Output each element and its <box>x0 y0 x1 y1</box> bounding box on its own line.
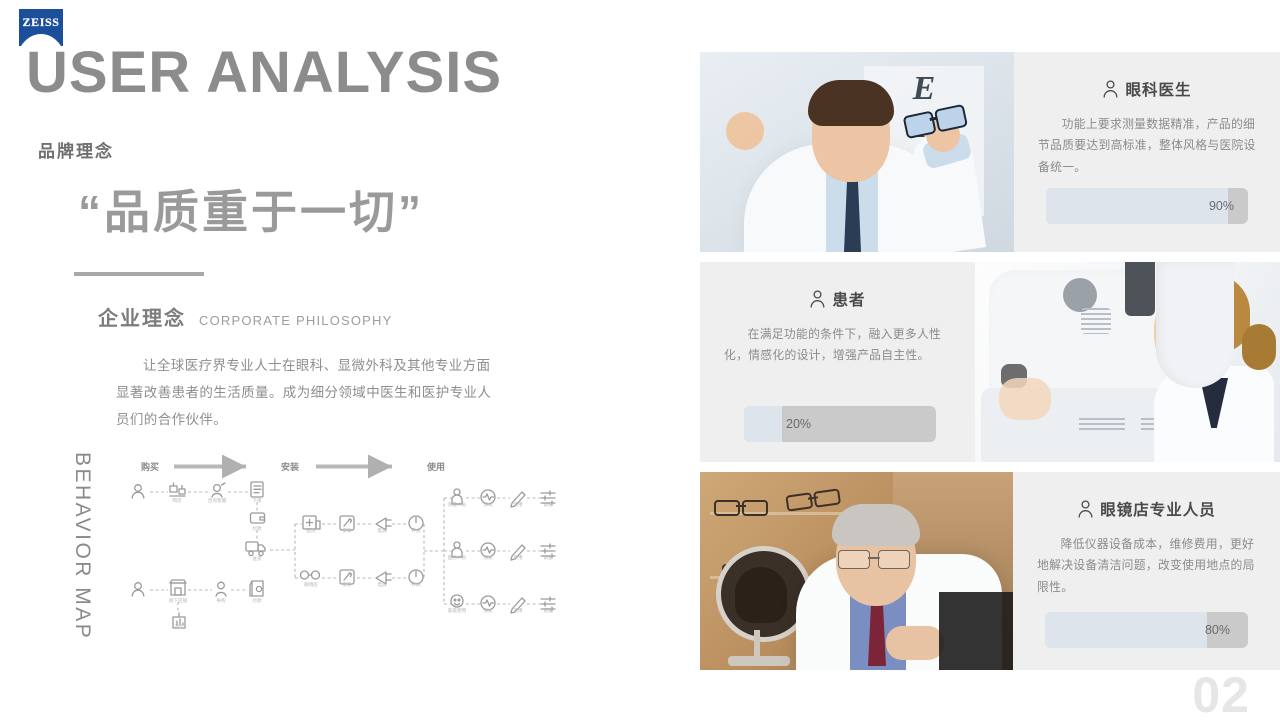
zeiss-logo-text: ZEISS <box>19 15 63 30</box>
svg-text:测量人员: 测量人员 <box>448 501 467 508</box>
svg-text:对比: 对比 <box>174 623 184 630</box>
svg-text:医务人员: 医务人员 <box>448 554 467 561</box>
svg-text:电源: 电源 <box>377 527 387 534</box>
phase-label-2: 使用 <box>426 461 445 472</box>
persona-progress-label: 90% <box>1209 188 1234 224</box>
svg-text:医院: 医院 <box>306 527 316 534</box>
slide-user-analysis: ZEISS USER ANALYSIS 品牌理念 “品质重于一切” 企业理念 C… <box>0 0 1280 720</box>
persona-header: 眼科医生 <box>1014 78 1280 100</box>
persona-panel-optician: 眼镜店专业人员 降低仪器设备成本，维修费用，更好地解决设备清洁问题，改变使用地点… <box>1013 472 1280 670</box>
svg-text:送货: 送货 <box>252 555 262 562</box>
svg-text:安装: 安装 <box>342 527 352 534</box>
persona-progress-fill <box>1045 612 1207 648</box>
persona-progress-fill <box>744 406 782 442</box>
svg-text:电源: 电源 <box>377 581 387 588</box>
philosophy-label-en: CORPORATE PHILOSOPHY <box>199 313 393 328</box>
svg-text:调整: 调整 <box>543 501 553 508</box>
persona-description: 功能上要求测量数据精准，产品的细节品质要达到高标准，整体风格与医院设备统一。 <box>1014 114 1280 178</box>
persona-progress-bar[interactable]: 80% <box>1045 612 1248 648</box>
brand-label: 品牌理念 <box>38 137 114 162</box>
svg-text:咨询客服: 咨询客服 <box>208 497 227 504</box>
svg-text:测试: 测试 <box>483 607 493 614</box>
page-number: 02 <box>1192 666 1250 724</box>
persona-header: 眼镜店专业人员 <box>1013 498 1280 520</box>
persona-description: 在满足功能的条件下，融入更多人性化，情感化的设计，增强产品自主性。 <box>700 324 975 367</box>
divider-rule <box>74 272 204 276</box>
phase-label-1: 安装 <box>281 461 300 472</box>
persona-header: 患者 <box>700 288 975 310</box>
philosophy-heading: 企业理念 CORPORATE PHILOSOPHY <box>98 302 393 331</box>
svg-text:安装: 安装 <box>342 581 352 588</box>
philosophy-label-cn: 企业理念 <box>98 302 186 331</box>
persona-role-label: 患者 <box>832 288 865 310</box>
svg-text:网店: 网店 <box>172 497 182 504</box>
svg-text:使用: 使用 <box>513 501 523 508</box>
page-title: USER ANALYSIS <box>26 44 502 102</box>
persona-progress-label: 20% <box>786 406 811 442</box>
svg-text:家庭使用: 家庭使用 <box>448 607 467 614</box>
svg-text:使用: 使用 <box>513 607 523 614</box>
persona-photo-patient <box>975 262 1280 462</box>
person-icon <box>809 290 826 308</box>
svg-text:使用: 使用 <box>513 554 523 561</box>
bmap-offline-row: 线下店铺 导购 付款 对比 <box>132 580 263 630</box>
svg-text:眼镜店: 眼镜店 <box>304 581 318 588</box>
persona-card-ophthalmologist[interactable]: EPZ 眼科医生 功能上要求测量数据精准，产品的细节品质要达到高标准，整体风 <box>700 52 1280 252</box>
persona-card-patient[interactable]: 患者 在满足功能的条件下，融入更多人性化，情感化的设计，增强产品自主性。 20% <box>700 262 1280 462</box>
svg-text:测试: 测试 <box>483 554 493 561</box>
svg-text:测试: 测试 <box>483 501 493 508</box>
persona-progress-bar[interactable]: 90% <box>1046 188 1248 224</box>
persona-photo-ophthalmologist: EPZ <box>700 52 1014 252</box>
persona-panel-ophthalmologist: 眼科医生 功能上要求测量数据精准，产品的细节品质要达到高标准，整体风格与医院设备… <box>1014 52 1280 252</box>
behavior-map-title: BEHAVIOR MAP <box>60 452 94 642</box>
persona-photo-optician <box>700 472 1013 670</box>
svg-text:导购: 导购 <box>216 597 226 604</box>
persona-progress-label: 80% <box>1205 612 1230 648</box>
persona-progress-bar[interactable]: 20% <box>744 406 936 442</box>
svg-text:调整: 调整 <box>543 607 553 614</box>
svg-text:开关: 开关 <box>411 527 421 534</box>
right-column: EPZ 眼科医生 功能上要求测量数据精准，产品的细节品质要达到高标准，整体风 <box>700 0 1280 720</box>
persona-card-optician[interactable]: 眼镜店专业人员 降低仪器设备成本，维修费用，更好地解决设备清洁问题，改变使用地点… <box>700 472 1280 670</box>
person-icon <box>1077 500 1094 518</box>
left-column: ZEISS USER ANALYSIS 品牌理念 “品质重于一切” 企业理念 C… <box>0 0 690 720</box>
bmap-install-block: 医院 安装 电源 开关 眼镜店 安装 <box>270 516 444 588</box>
persona-role-label: 眼科医生 <box>1125 78 1191 100</box>
persona-panel-patient: 患者 在满足功能的条件下，融入更多人性化，情感化的设计，增强产品自主性。 20% <box>700 262 975 462</box>
person-icon <box>1102 80 1119 98</box>
bmap-online-row: 网店 咨询客服 下单 付款 送货 <box>132 482 265 562</box>
brand-slogan: “品质重于一切” <box>78 176 424 242</box>
persona-description: 降低仪器设备成本，维修费用，更好地解决设备清洁问题，改变使用地点的局限性。 <box>1013 534 1280 598</box>
svg-text:开关: 开关 <box>411 581 421 588</box>
svg-text:付款: 付款 <box>252 597 262 604</box>
philosophy-body-copy: 让全球医疗界专业人士在眼科、显微外科及其他专业方面显著改善患者的生活质量。成为细… <box>116 352 496 433</box>
svg-text:调整: 调整 <box>543 554 553 561</box>
bmap-use-block: 测量人员 测试 使用 调整 医务人员 测试 <box>444 489 555 614</box>
persona-progress-fill <box>1046 188 1228 224</box>
behavior-map-diagram: .ic{fill:none;stroke:#9a9a9a;stroke-widt… <box>130 452 580 632</box>
persona-role-label: 眼镜店专业人员 <box>1100 498 1216 520</box>
phase-label-0: 购买 <box>141 461 159 472</box>
